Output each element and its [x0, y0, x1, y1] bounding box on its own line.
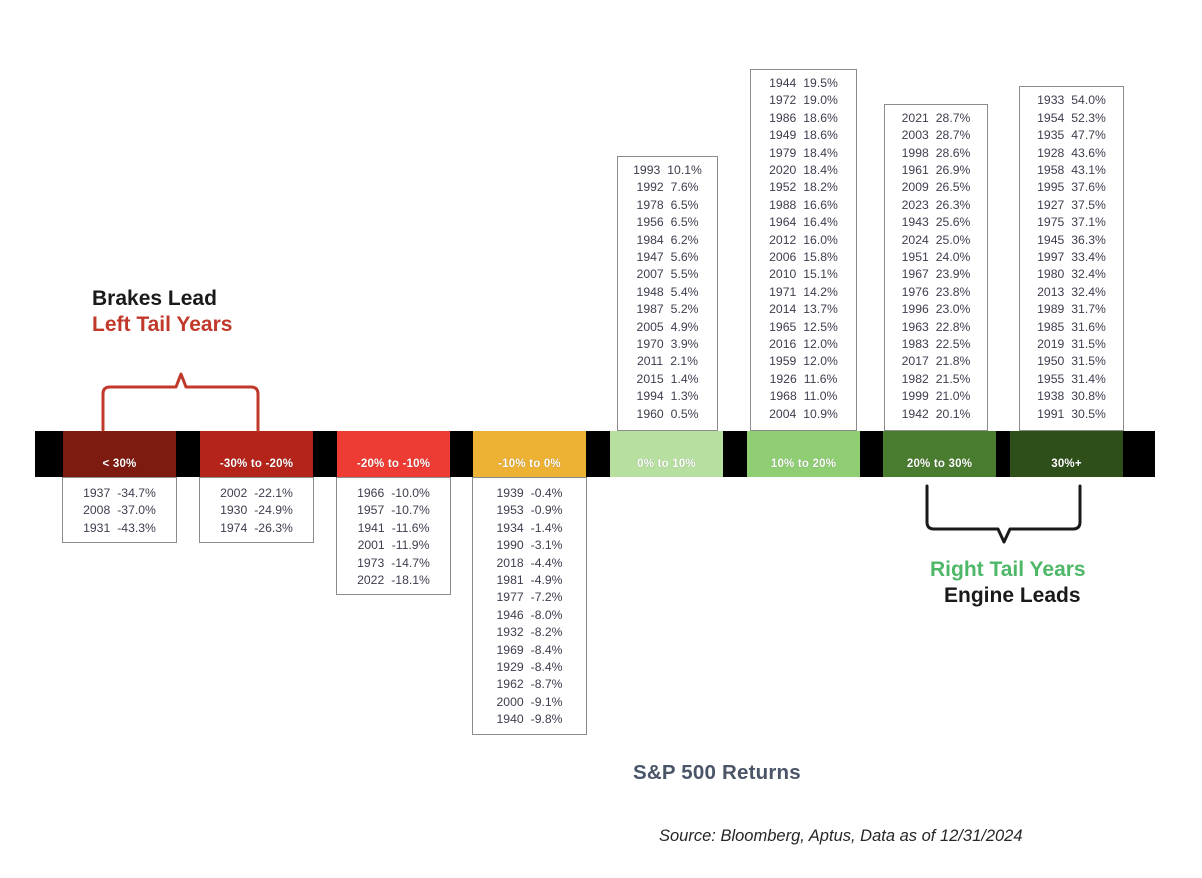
year-return-row: 1930-24.9%: [206, 502, 307, 519]
year-label: 1933: [1037, 92, 1064, 109]
return-value: -11.6%: [392, 520, 430, 537]
year-return-row: 19927.6%: [624, 179, 711, 196]
return-value: 30.8%: [1071, 388, 1106, 405]
year-label: 1997: [1037, 249, 1064, 266]
year-return-row: 1966-10.0%: [343, 485, 444, 502]
year-label: 1942: [902, 406, 929, 423]
year-label: 1960: [637, 406, 664, 423]
year-label: 1964: [769, 214, 796, 231]
year-label: 2019: [1037, 336, 1064, 353]
year-return-row: 2001-11.9%: [343, 537, 444, 554]
year-return-row: 19485.4%: [624, 284, 711, 301]
year-label: 1978: [637, 197, 664, 214]
year-return-row: 194325.6%: [891, 214, 981, 231]
year-label: 1956: [637, 214, 664, 231]
year-label: 1967: [902, 266, 929, 283]
year-label: 1994: [637, 388, 664, 405]
year-return-row: 199537.6%: [1026, 179, 1117, 196]
return-value: 26.9%: [936, 162, 971, 179]
year-return-row: 1969-8.4%: [479, 642, 580, 659]
return-value: -8.0%: [531, 607, 563, 624]
year-label: 2002: [220, 485, 247, 502]
year-return-row: 198931.7%: [1026, 301, 1117, 318]
year-label: 1984: [637, 232, 664, 249]
return-value: -8.7%: [531, 676, 563, 693]
return-value: 28.7%: [936, 127, 971, 144]
return-value: 21.5%: [936, 371, 971, 388]
return-value: 6.2%: [671, 232, 699, 249]
return-value: 6.5%: [671, 197, 699, 214]
year-label: 1930: [220, 502, 247, 519]
year-label: 2021: [902, 110, 929, 127]
return-value: -26.3%: [254, 520, 293, 537]
left-tail-annotation: Brakes Lead Left Tail Years: [92, 286, 232, 339]
year-label: 1935: [1037, 127, 1064, 144]
year-return-row: 2018-4.4%: [479, 555, 580, 572]
year-return-row: 199623.0%: [891, 301, 981, 318]
return-value: -9.8%: [531, 711, 563, 728]
year-return-row: 192611.6%: [757, 371, 850, 388]
year-label: 1945: [1037, 232, 1064, 249]
year-return-row: 196512.5%: [757, 319, 850, 336]
return-value: 10.1%: [667, 162, 702, 179]
year-return-row: 199828.6%: [891, 145, 981, 162]
return-value: -9.1%: [531, 694, 563, 711]
return-value: 11.0%: [804, 388, 838, 405]
year-label: 1947: [637, 249, 664, 266]
year-label: 2020: [769, 162, 796, 179]
return-value: -24.9%: [254, 502, 293, 519]
return-value: 19.5%: [803, 75, 838, 92]
year-label: 1953: [497, 502, 524, 519]
return-value: 19.0%: [803, 92, 838, 109]
return-value: 6.5%: [671, 214, 699, 231]
return-value: 26.3%: [936, 197, 971, 214]
year-label: 2017: [902, 353, 929, 370]
year-return-row: 19941.3%: [624, 388, 711, 405]
year-return-row: 195452.3%: [1026, 110, 1117, 127]
return-value: 21.8%: [936, 353, 971, 370]
bucket-label-swatch[interactable]: 0% to 10%: [610, 431, 723, 477]
return-value: 26.5%: [936, 179, 971, 196]
bucket-label-swatch[interactable]: < 30%: [63, 431, 176, 477]
year-return-row: 202018.4%: [757, 162, 850, 179]
year-label: 1946: [497, 607, 524, 624]
year-return-row: 193547.7%: [1026, 127, 1117, 144]
year-return-row: 2002-22.1%: [206, 485, 307, 502]
year-return-row: 1941-11.6%: [343, 520, 444, 537]
year-label: 1954: [1037, 110, 1064, 127]
year-return-row: 193830.8%: [1026, 388, 1117, 405]
year-label: 1963: [902, 319, 929, 336]
year-label: 2003: [902, 127, 929, 144]
year-return-row: 195531.4%: [1026, 371, 1117, 388]
year-label: 2005: [637, 319, 664, 336]
year-return-row: 194419.5%: [757, 75, 850, 92]
year-label: 1972: [769, 92, 796, 109]
year-label: 1980: [1037, 266, 1064, 283]
year-return-row: 196322.8%: [891, 319, 981, 336]
year-label: 1973: [357, 555, 384, 572]
bucket-label: -30% to -20%: [220, 458, 293, 470]
return-value: 1.4%: [671, 371, 699, 388]
year-return-row: 198816.6%: [757, 197, 850, 214]
year-return-row: 195031.5%: [1026, 353, 1117, 370]
year-return-row: 197537.1%: [1026, 214, 1117, 231]
year-return-row: 201612.0%: [757, 336, 850, 353]
return-value: 18.4%: [803, 145, 838, 162]
return-value: 33.4%: [1071, 249, 1106, 266]
year-label: 1938: [1037, 388, 1064, 405]
return-value: -8.2%: [531, 624, 563, 641]
year-return-row: 199921.0%: [891, 388, 981, 405]
year-label: 1996: [902, 301, 929, 318]
year-return-row: 1981-4.9%: [479, 572, 580, 589]
year-label: 1975: [1037, 214, 1064, 231]
year-label: 1979: [769, 145, 796, 162]
year-return-row: 19475.6%: [624, 249, 711, 266]
year-return-row: 198032.4%: [1026, 266, 1117, 283]
return-value: 24.0%: [936, 249, 971, 266]
bucket-year-list: 1939-0.4%1953-0.9%1934-1.4%1990-3.1%2018…: [472, 477, 587, 735]
return-value: 4.9%: [671, 319, 699, 336]
return-value: 23.9%: [936, 266, 971, 283]
return-value: 12.0%: [803, 353, 838, 370]
year-label: 1941: [358, 520, 385, 537]
return-value: 7.6%: [671, 179, 699, 196]
return-value: 37.5%: [1071, 197, 1106, 214]
year-label: 2023: [902, 197, 929, 214]
year-label: 1949: [769, 127, 796, 144]
year-label: 1968: [770, 388, 797, 405]
year-label: 2018: [497, 555, 524, 572]
year-return-row: 1953-0.9%: [479, 502, 580, 519]
year-label: 1952: [769, 179, 796, 196]
year-return-row: 200328.7%: [891, 127, 981, 144]
return-value: 31.5%: [1071, 353, 1106, 370]
return-value: 15.8%: [803, 249, 838, 266]
return-value: 11.6%: [804, 371, 838, 388]
return-value: 25.6%: [936, 214, 971, 231]
return-value: -8.4%: [531, 642, 563, 659]
year-label: 2015: [637, 371, 664, 388]
year-label: 1991: [1037, 406, 1064, 423]
return-value: -0.9%: [531, 502, 563, 519]
year-return-row: 199733.4%: [1026, 249, 1117, 266]
year-return-row: 20151.4%: [624, 371, 711, 388]
year-return-row: 1946-8.0%: [479, 607, 580, 624]
year-return-row: 198221.5%: [891, 371, 981, 388]
year-label: 2008: [83, 502, 110, 519]
year-return-row: 194536.3%: [1026, 232, 1117, 249]
year-return-row: 201216.0%: [757, 232, 850, 249]
bucket-label-swatch[interactable]: 20% to 30%: [883, 431, 996, 477]
year-return-row: 197219.0%: [757, 92, 850, 109]
bucket-label: 20% to 30%: [907, 458, 972, 470]
return-value: -18.1%: [391, 572, 430, 589]
year-label: 1948: [637, 284, 664, 301]
bucket-label-swatch[interactable]: 10% to 20%: [747, 431, 860, 477]
bucket-label: 30%+: [1051, 458, 1082, 470]
year-return-row: 1974-26.3%: [206, 520, 307, 537]
year-label: 2000: [497, 694, 524, 711]
year-label: 2011: [637, 353, 663, 370]
bucket-label: -20% to -10%: [357, 458, 430, 470]
return-value: 37.6%: [1071, 179, 1106, 196]
return-value: 47.7%: [1071, 127, 1106, 144]
year-label: 1977: [497, 589, 524, 606]
bucket-label-swatch[interactable]: 30%+: [1010, 431, 1123, 477]
year-return-row: 201721.8%: [891, 353, 981, 370]
return-value: 21.0%: [936, 388, 971, 405]
bucket-label: -10% to 0%: [498, 458, 561, 470]
return-value: 22.8%: [936, 319, 971, 336]
bucket-year-list: 1966-10.0%1957-10.7%1941-11.6%2001-11.9%…: [336, 477, 451, 595]
return-value: 16.4%: [803, 214, 838, 231]
right-annotation-line2: Engine Leads: [930, 583, 1086, 609]
year-return-row: 1990-3.1%: [479, 537, 580, 554]
year-label: 1929: [497, 659, 524, 676]
year-label: 1950: [1037, 353, 1064, 370]
year-label: 1986: [769, 110, 796, 127]
return-value: 31.6%: [1071, 319, 1106, 336]
year-label: 2001: [358, 537, 385, 554]
year-return-row: 197114.2%: [757, 284, 850, 301]
year-label: 2007: [637, 266, 664, 283]
return-value: 36.3%: [1071, 232, 1106, 249]
bucket-year-list: 1937-34.7%2008-37.0%1931-43.3%: [62, 477, 177, 543]
return-value: 32.4%: [1071, 284, 1106, 301]
year-return-row: 200615.8%: [757, 249, 850, 266]
year-label: 1951: [902, 249, 929, 266]
bucket-year-list: 2002-22.1%1930-24.9%1974-26.3%: [199, 477, 314, 543]
year-label: 2022: [357, 572, 384, 589]
right-tail-annotation: Right Tail Years Engine Leads: [930, 557, 1086, 610]
year-return-row: 19846.2%: [624, 232, 711, 249]
return-value: 28.6%: [936, 145, 971, 162]
return-value: -1.4%: [531, 520, 563, 537]
return-value: 2.1%: [670, 353, 698, 370]
return-value: 5.5%: [671, 266, 699, 283]
year-label: 1998: [902, 145, 929, 162]
year-label: 1969: [497, 642, 524, 659]
right-annotation-line1: Right Tail Years: [930, 557, 1086, 583]
year-return-row: 200926.5%: [891, 179, 981, 196]
year-label: 2016: [769, 336, 796, 353]
year-label: 2012: [769, 232, 796, 249]
year-return-row: 1931-43.3%: [69, 520, 170, 537]
year-label: 1943: [902, 214, 929, 231]
year-return-row: 195218.2%: [757, 179, 850, 196]
year-return-row: 19600.5%: [624, 406, 711, 423]
chart-title: S&P 500 Returns: [633, 761, 801, 785]
return-value: 30.5%: [1071, 406, 1106, 423]
left-tail-bracket: [98, 372, 268, 432]
year-label: 1928: [1037, 145, 1064, 162]
year-label: 1957: [357, 502, 384, 519]
year-label: 1939: [497, 485, 524, 502]
year-return-row: 199130.5%: [1026, 406, 1117, 423]
year-label: 2006: [769, 249, 796, 266]
year-return-row: 201931.5%: [1026, 336, 1117, 353]
year-label: 1989: [1037, 301, 1064, 318]
return-value: -0.4%: [531, 485, 563, 502]
year-return-row: 1977-7.2%: [479, 589, 580, 606]
year-label: 1934: [497, 520, 524, 537]
year-return-row: 198531.6%: [1026, 319, 1117, 336]
year-return-row: 196723.9%: [891, 266, 981, 283]
bucket-label-swatch[interactable]: -20% to -10%: [337, 431, 450, 477]
year-label: 1999: [902, 388, 929, 405]
year-label: 1955: [1037, 371, 1064, 388]
year-label: 1961: [902, 162, 929, 179]
year-label: 1993: [633, 162, 660, 179]
left-annotation-line1: Brakes Lead: [92, 286, 232, 312]
return-value: 12.5%: [803, 319, 838, 336]
return-value: 31.7%: [1071, 301, 1106, 318]
year-return-row: 194918.6%: [757, 127, 850, 144]
year-label: 1981: [497, 572, 524, 589]
year-return-row: 201015.1%: [757, 266, 850, 283]
year-return-row: 196811.0%: [757, 388, 850, 405]
return-value: 23.8%: [936, 284, 971, 301]
year-label: 1995: [1037, 179, 1064, 196]
return-value: 22.5%: [936, 336, 971, 353]
return-value: -7.2%: [531, 589, 563, 606]
year-return-row: 1973-14.7%: [343, 555, 444, 572]
year-label: 1990: [497, 537, 524, 554]
chart-source-note: Source: Bloomberg, Aptus, Data as of 12/…: [659, 827, 1023, 846]
year-return-row: 201413.7%: [757, 301, 850, 318]
year-return-row: 2022-18.1%: [343, 572, 444, 589]
year-label: 1988: [769, 197, 796, 214]
return-value: 15.1%: [803, 266, 838, 283]
return-value: 5.6%: [671, 249, 699, 266]
return-value: 20.1%: [936, 406, 971, 423]
return-value: 12.0%: [803, 336, 838, 353]
year-return-row: 198322.5%: [891, 336, 981, 353]
year-return-row: 20054.9%: [624, 319, 711, 336]
return-value: -11.9%: [392, 537, 430, 554]
return-value: 52.3%: [1071, 110, 1106, 127]
return-value: 28.7%: [936, 110, 971, 127]
return-value: 16.6%: [803, 197, 838, 214]
year-return-row: 202326.3%: [891, 197, 981, 214]
year-label: 1987: [637, 301, 664, 318]
return-value: -34.7%: [117, 485, 156, 502]
year-label: 2013: [1037, 284, 1064, 301]
bucket-year-list: 202128.7%200328.7%199828.6%196126.9%2009…: [884, 104, 988, 431]
return-value: 43.6%: [1071, 145, 1106, 162]
year-label: 2014: [769, 301, 796, 318]
year-return-row: 2008-37.0%: [69, 502, 170, 519]
year-label: 1940: [497, 711, 524, 728]
return-value: -22.1%: [254, 485, 293, 502]
year-label: 1966: [357, 485, 384, 502]
return-value: 13.7%: [803, 301, 838, 318]
year-label: 1931: [83, 520, 110, 537]
return-value: 31.5%: [1071, 336, 1106, 353]
bucket-year-list: 193354.0%195452.3%193547.7%192843.6%1958…: [1019, 86, 1124, 431]
return-value: 14.2%: [803, 284, 838, 301]
return-value: 23.0%: [936, 301, 971, 318]
return-value: -4.9%: [531, 572, 563, 589]
return-value: 1.3%: [671, 388, 699, 405]
return-value: 18.6%: [803, 110, 838, 127]
year-label: 1965: [769, 319, 796, 336]
year-label: 1958: [1037, 162, 1064, 179]
year-return-row: 1940-9.8%: [479, 711, 580, 728]
year-return-row: 19566.5%: [624, 214, 711, 231]
year-label: 1985: [1037, 319, 1064, 336]
year-return-row: 201332.4%: [1026, 284, 1117, 301]
year-return-row: 1957-10.7%: [343, 502, 444, 519]
year-return-row: 1962-8.7%: [479, 676, 580, 693]
return-value: 37.1%: [1071, 214, 1106, 231]
year-return-row: 194220.1%: [891, 406, 981, 423]
year-return-row: 195843.1%: [1026, 162, 1117, 179]
return-value: 5.4%: [671, 284, 699, 301]
year-label: 2010: [769, 266, 796, 283]
year-label: 2024: [902, 232, 929, 249]
year-return-row: 195912.0%: [757, 353, 850, 370]
year-label: 1962: [497, 676, 524, 693]
year-return-row: 196126.9%: [891, 162, 981, 179]
left-annotation-line2: Left Tail Years: [92, 312, 232, 338]
year-return-row: 195124.0%: [891, 249, 981, 266]
bucket-year-list: 194419.5%197219.0%198618.6%194918.6%1979…: [750, 69, 857, 431]
year-return-row: 197918.4%: [757, 145, 850, 162]
return-value: 5.2%: [671, 301, 699, 318]
year-return-row: 1937-34.7%: [69, 485, 170, 502]
year-label: 1944: [769, 75, 796, 92]
year-return-row: 20112.1%: [624, 353, 711, 370]
year-label: 2009: [902, 179, 929, 196]
year-label: 1926: [770, 371, 797, 388]
bucket-label-swatch[interactable]: -30% to -20%: [200, 431, 313, 477]
return-value: 10.9%: [803, 406, 838, 423]
bucket-label: 0% to 10%: [637, 458, 696, 470]
return-value: 18.2%: [803, 179, 838, 196]
year-return-row: 193354.0%: [1026, 92, 1117, 109]
year-return-row: 1939-0.4%: [479, 485, 580, 502]
year-label: 1982: [902, 371, 929, 388]
return-value: 0.5%: [671, 406, 699, 423]
return-value: 18.4%: [803, 162, 838, 179]
year-return-row: 2000-9.1%: [479, 694, 580, 711]
year-return-row: 1929-8.4%: [479, 659, 580, 676]
return-value: 31.4%: [1071, 371, 1106, 388]
bucket-label-swatch[interactable]: -10% to 0%: [473, 431, 586, 477]
year-return-row: 202425.0%: [891, 232, 981, 249]
return-value: 32.4%: [1071, 266, 1106, 283]
year-return-row: 20075.5%: [624, 266, 711, 283]
year-return-row: 198618.6%: [757, 110, 850, 127]
year-return-row: 202128.7%: [891, 110, 981, 127]
return-value: -43.3%: [117, 520, 156, 537]
return-value: 43.1%: [1071, 162, 1106, 179]
year-label: 1983: [902, 336, 929, 353]
year-return-row: 1932-8.2%: [479, 624, 580, 641]
year-label: 1971: [769, 284, 796, 301]
year-label: 1970: [637, 336, 664, 353]
year-return-row: 200410.9%: [757, 406, 850, 423]
return-value: -8.4%: [531, 659, 563, 676]
year-label: 1927: [1037, 197, 1064, 214]
year-return-row: 196416.4%: [757, 214, 850, 231]
year-label: 2004: [769, 406, 796, 423]
return-value: 54.0%: [1071, 92, 1106, 109]
